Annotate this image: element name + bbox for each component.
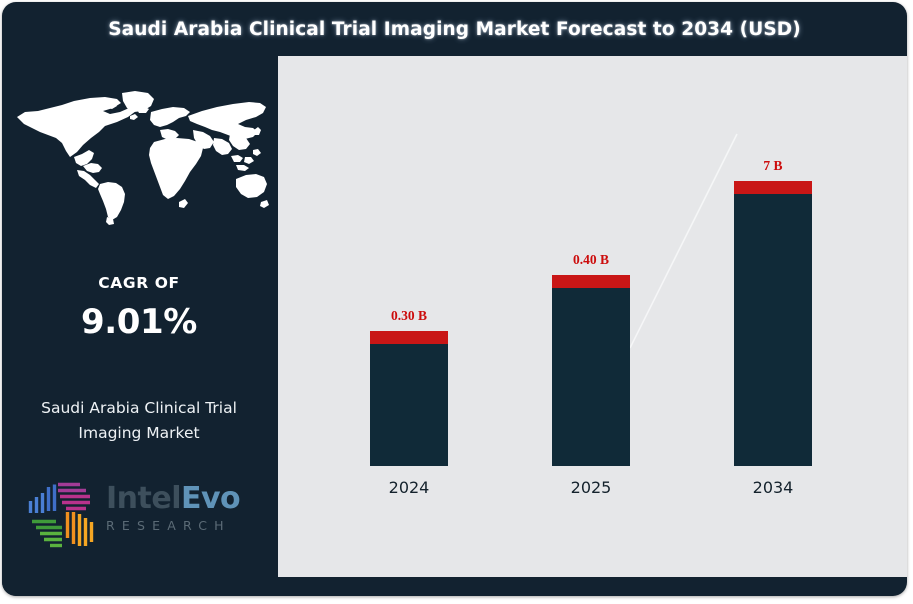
chart-panel: 0.30 B 2024 0.40 B 2025 7 B: [278, 56, 907, 577]
infographic-card: Saudi Arabia Clinical Trial Imaging Mark…: [2, 2, 907, 596]
bar-2024[interactable]: 0.30 B 2024: [370, 331, 448, 466]
bar-cap-2025: [552, 275, 630, 288]
logo-subtitle: RESEARCH: [106, 518, 266, 533]
logo-word-evo: Evo: [181, 481, 240, 516]
page-title: Saudi Arabia Clinical Trial Imaging Mark…: [108, 19, 801, 40]
title-bar: Saudi Arabia Clinical Trial Imaging Mark…: [2, 2, 907, 56]
bar-body-2024: [370, 331, 448, 466]
bar-2025[interactable]: 0.40 B 2025: [552, 275, 630, 466]
pinwheel-logo-icon: [24, 478, 98, 552]
bar-value-2024: 0.30 B: [391, 308, 427, 324]
cagr-label: CAGR OF: [2, 274, 276, 292]
bar-2034[interactable]: 7 B 2034: [734, 181, 812, 466]
cagr-value: 9.01%: [2, 302, 276, 342]
bar-label-2025: 2025: [571, 478, 612, 497]
bar-label-2024: 2024: [389, 478, 430, 497]
bar-cap-2024: [370, 331, 448, 344]
logo-word-row: IntelEvo: [106, 482, 266, 516]
sidebar: CAGR OF 9.01% Saudi Arabia Clinical Tria…: [2, 56, 276, 596]
world-map-icon: [10, 86, 270, 226]
logo-wordmark: IntelEvo RESEARCH: [106, 482, 266, 533]
bar-value-2025: 0.40 B: [573, 252, 609, 268]
logo-word-intel: Intel: [106, 481, 181, 516]
market-name: Saudi Arabia Clinical Trial Imaging Mark…: [24, 396, 254, 446]
bar-body-2025: [552, 275, 630, 466]
bar-value-2034: 7 B: [763, 158, 782, 174]
infographic-root: Saudi Arabia Clinical Trial Imaging Mark…: [0, 0, 913, 604]
brand-logo: IntelEvo RESEARCH: [20, 474, 266, 559]
bar-label-2034: 2034: [753, 478, 794, 497]
bar-chart: 0.30 B 2024 0.40 B 2025 7 B: [278, 56, 907, 577]
bar-body-2034: [734, 181, 812, 466]
bar-cap-2034: [734, 181, 812, 194]
